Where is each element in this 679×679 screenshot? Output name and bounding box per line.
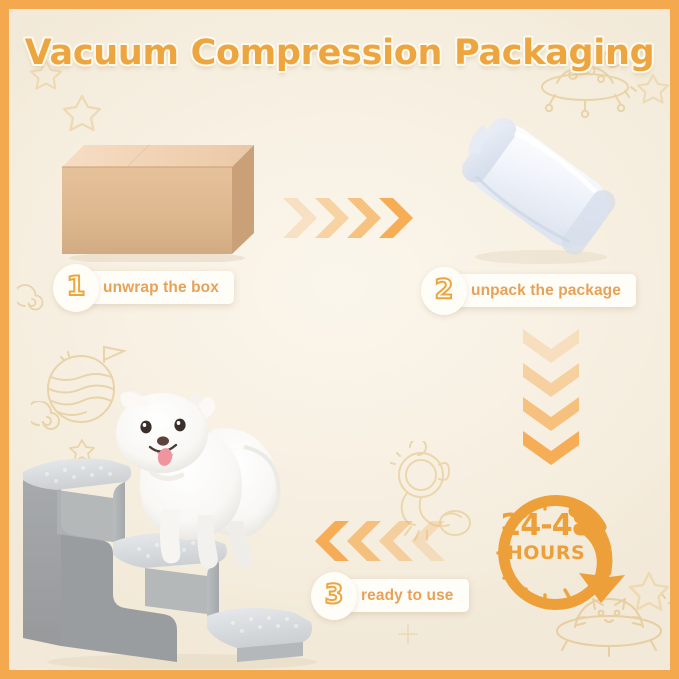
arrows-wait-to-step3 [315,517,447,565]
step-1-label: 1 unwrap the box [61,271,234,304]
infographic-frame: Vacuum Compression Packaging 1 unwrap th… [0,0,679,679]
step-2-text: unpack the package [471,282,621,300]
expansion-unit: HOURS [483,541,609,565]
step-3-label: 3 ready to use [319,579,469,612]
arrows-step1-to-step2 [281,194,413,242]
page-title: Vacuum Compression Packaging [9,33,670,73]
pomeranian-dog-photo [94,389,284,574]
cardboard-box-icon [54,137,259,262]
step-2-label: 2 unpack the package [429,274,636,307]
step-3-number: 3 [311,572,357,620]
star-doodle-top-right [636,71,670,105]
cross-sparkle-doodle [397,623,419,645]
expansion-time-badge: 24-48 HOURS [483,481,631,621]
expansion-time-text: 24-48 HOURS [483,511,609,565]
infographic-canvas: Vacuum Compression Packaging 1 unwrap th… [9,9,670,670]
arrows-step2-to-wait [519,327,583,467]
step-2-number: 2 [421,267,467,315]
star-doodle-top-left-2 [61,91,103,133]
step-3-text: ready to use [361,587,454,605]
star-doodle-bottom-right [627,569,670,613]
step-1-number: 1 [53,264,99,312]
step-1-text: unwrap the box [103,279,219,297]
spiral-doodle-dog [17,284,47,314]
expansion-duration: 24-48 [483,511,609,541]
vacuum-sealed-roll-icon [449,107,629,267]
